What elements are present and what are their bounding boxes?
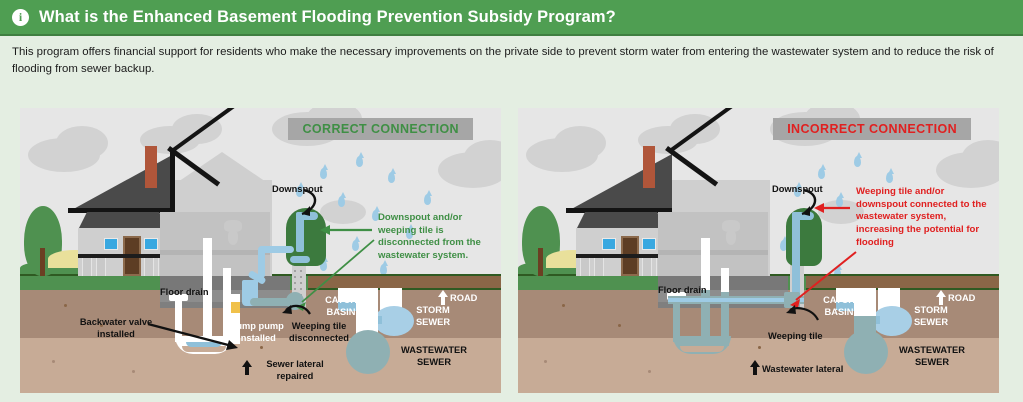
info-icon: i xyxy=(12,9,29,26)
arrow-downspout xyxy=(20,108,501,393)
section-header: i What is the Enhanced Basement Flooding… xyxy=(0,0,1023,36)
arrow-group-right xyxy=(518,108,999,393)
intro-paragraph: This program offers financial support fo… xyxy=(0,36,1015,83)
panel-correct-connection: CORRECT CONNECTION xyxy=(20,108,501,393)
page-root: i What is the Enhanced Basement Flooding… xyxy=(0,0,1023,402)
panel-incorrect-connection: INCORRECT CONNECTION xyxy=(518,108,999,393)
diagram-panels: CORRECT CONNECTION xyxy=(0,108,1023,393)
page-title: What is the Enhanced Basement Flooding P… xyxy=(39,8,616,27)
